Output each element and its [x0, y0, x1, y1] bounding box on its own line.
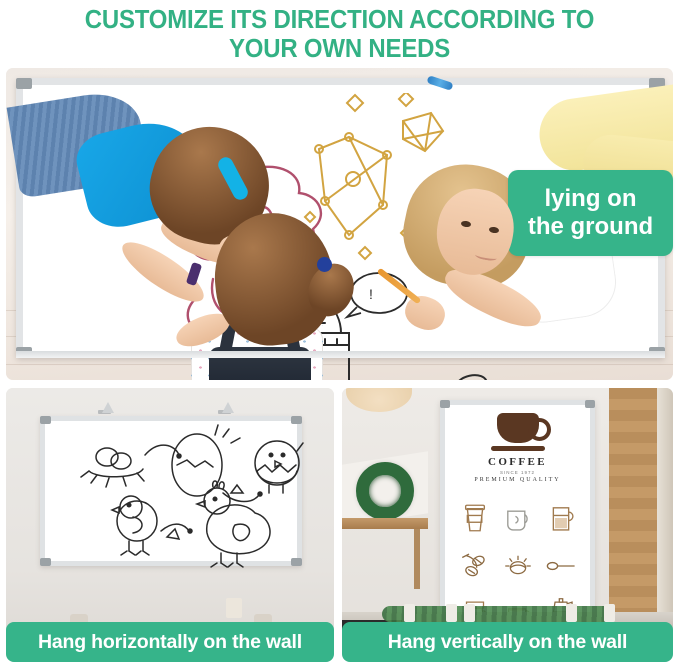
frame-corner-icon	[16, 347, 32, 358]
child-right-hand	[401, 291, 450, 335]
doodle-latte-glass	[544, 501, 578, 535]
doodle-coffee-bean	[501, 549, 535, 583]
label-hang-horizontally-text: Hang horizontally on the wall	[38, 631, 302, 654]
child-center-overalls	[209, 347, 311, 380]
frame-corner-icon	[585, 400, 595, 408]
coffee-cup-icon	[497, 413, 539, 443]
purple-marker-icon	[186, 262, 202, 286]
label-hang-vertically: Hang vertically on the wall	[342, 622, 673, 662]
jar-icon	[404, 604, 415, 622]
svg-text:!: !	[369, 286, 373, 302]
frame-corner-icon	[40, 558, 51, 566]
label-hang-vertically-text: Hang vertically on the wall	[388, 631, 628, 654]
frame-corner-icon	[40, 416, 51, 424]
jar-icon	[566, 604, 577, 622]
child-center-hair-tie	[317, 257, 332, 272]
coffee-logo-word: COFFEE	[463, 456, 573, 468]
doodle-coffee-cherries	[458, 549, 492, 583]
shelf-leg	[414, 529, 420, 589]
frame-corner-icon	[291, 558, 302, 566]
pencil-cup-icon	[226, 598, 242, 618]
doodle-to-go-cup	[458, 501, 492, 535]
badge-lying-on-the-ground: lying on the ground	[508, 170, 673, 256]
doodle-glass-mug	[501, 501, 535, 535]
hanging-hook-icon	[102, 402, 114, 413]
badge-line-1: lying on	[545, 185, 637, 212]
wall-shelf	[342, 518, 428, 529]
jar-icon	[446, 604, 457, 622]
frame-corner-icon	[440, 400, 450, 408]
frame-corner-icon	[16, 78, 32, 89]
coffee-logo: COFFEE SINCE 1972 PREMIUM QUALITY	[463, 413, 573, 483]
title-line-2: YOUR OWN NEEDS	[20, 35, 658, 64]
frame-corner-icon	[291, 416, 302, 424]
panel-hang-horizontally	[6, 388, 334, 656]
frame-corner-icon	[649, 347, 665, 358]
green-garland	[382, 606, 613, 622]
jar-icon	[604, 604, 615, 622]
page-title: CUSTOMIZE ITS DIRECTION ACCORDING TO YOU…	[0, 0, 679, 64]
whiteboard-vertical: COFFEE SINCE 1972 PREMIUM QUALITY	[440, 400, 595, 622]
coffee-logo-since: SINCE 1972	[463, 470, 573, 475]
christmas-wreath-icon	[356, 462, 414, 520]
doodle-chicken-lifecycle	[45, 421, 307, 571]
jar-icon	[464, 604, 475, 622]
blue-marker-icon	[426, 75, 453, 91]
whiteboard-horizontal	[40, 416, 302, 566]
coffee-logo-tagline: PREMIUM QUALITY	[463, 477, 573, 483]
saucer-icon	[491, 446, 545, 451]
doodle-spoon	[544, 549, 578, 583]
panel-hang-vertically: COFFEE SINCE 1972 PREMIUM QUALITY	[342, 388, 673, 656]
badge-line-2: the ground	[528, 213, 653, 240]
label-hang-horizontally: Hang horizontally on the wall	[6, 622, 334, 662]
orange-marker-icon	[377, 268, 422, 305]
hanging-hook-icon	[222, 402, 234, 413]
title-line-1: CUSTOMIZE ITS DIRECTION ACCORDING TO	[20, 6, 658, 35]
